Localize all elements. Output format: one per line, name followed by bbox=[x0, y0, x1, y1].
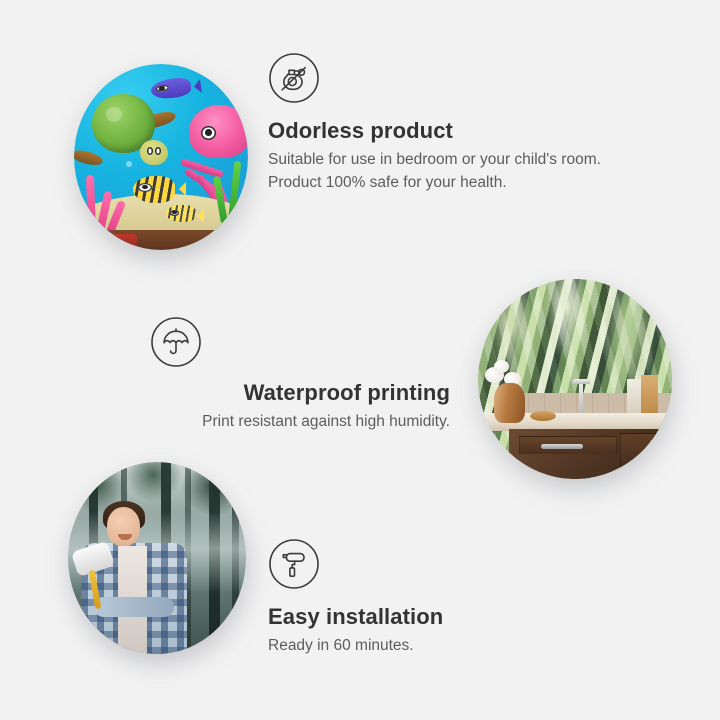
vanity-door bbox=[620, 433, 666, 479]
feature-description: Ready in 60 minutes. bbox=[268, 635, 598, 657]
face bbox=[107, 507, 140, 546]
feature-title: Easy installation bbox=[268, 604, 598, 630]
image-bathroom-wallpaper bbox=[478, 279, 672, 479]
feature-installation: Easy installation Ready in 60 minutes. bbox=[268, 538, 598, 658]
drawer-pull bbox=[541, 444, 583, 449]
ocean-artwork bbox=[74, 64, 248, 250]
door-pull bbox=[650, 440, 655, 461]
feature-description: Print resistant against high humidity. bbox=[150, 411, 450, 433]
feature-description: Suitable for use in bedroom or your chil… bbox=[268, 149, 618, 194]
vanity-drawer bbox=[519, 436, 617, 454]
wood-vanity-cabinet bbox=[509, 429, 672, 479]
small-striped-fish bbox=[166, 205, 196, 222]
woman-holding-paint-roller bbox=[79, 504, 189, 654]
turtle-head bbox=[140, 140, 167, 165]
green-sea-turtle bbox=[84, 94, 164, 168]
fish-eye bbox=[155, 84, 169, 92]
feature-waterproof: Waterproof printing Print resistant agai… bbox=[150, 316, 450, 434]
fish-eye bbox=[138, 183, 151, 192]
roller-handle bbox=[89, 570, 102, 609]
octopus-head bbox=[189, 105, 248, 158]
paint-roller-prop bbox=[74, 546, 112, 609]
umbrella-icon bbox=[150, 316, 450, 368]
gold-vase bbox=[494, 383, 525, 423]
image-ocean-mural bbox=[74, 64, 248, 250]
pink-coral bbox=[74, 172, 140, 235]
feature-odorless: Odorless product Suitable for use in bed… bbox=[268, 52, 618, 194]
feature-title: Waterproof printing bbox=[150, 380, 450, 406]
feature-title: Odorless product bbox=[268, 118, 618, 144]
installer-artwork bbox=[68, 462, 246, 654]
image-installer-photo bbox=[68, 462, 246, 654]
faucet bbox=[579, 383, 583, 417]
soap-dish bbox=[530, 411, 555, 421]
feature-highlights-stage: Odorless product Suitable for use in bed… bbox=[0, 0, 720, 720]
octopus-eye bbox=[201, 126, 216, 140]
foreground-rock-band bbox=[74, 230, 248, 250]
no-odor-spray-bottle-icon bbox=[268, 52, 618, 104]
bathroom-artwork bbox=[478, 279, 672, 479]
fish-eye bbox=[170, 210, 180, 216]
paint-roller-icon bbox=[268, 538, 598, 590]
